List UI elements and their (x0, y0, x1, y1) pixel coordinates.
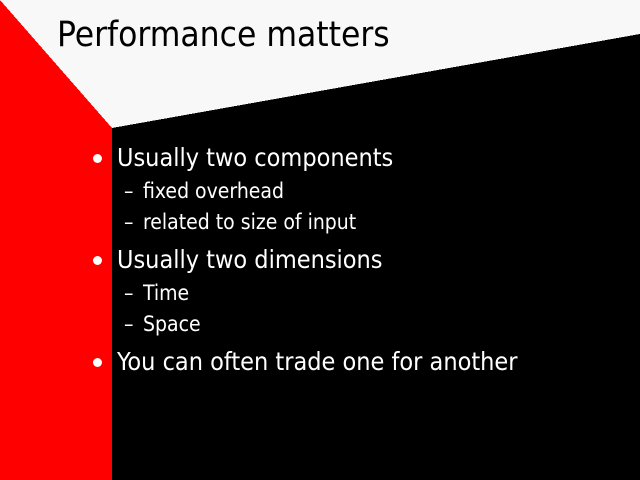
slide-body-list: Usually two components – fixed overhead … (0, 141, 640, 381)
slide-title: Performance matters (57, 14, 597, 56)
dash-marker-icon: – (124, 310, 133, 339)
dash-marker-icon: – (124, 177, 133, 206)
bullet-text: fixed overhead (143, 177, 284, 206)
bullet-text: Usually two components (117, 141, 393, 175)
bullet-text: Usually two dimensions (117, 243, 383, 277)
bullet-text: You can often trade one for another (117, 345, 518, 379)
bullet-item-level2: – Time (0, 279, 640, 310)
bullet-text: Time (143, 279, 189, 308)
bullet-text: related to size of input (143, 208, 356, 237)
bullet-item-level1: Usually two dimensions (0, 243, 640, 279)
bullet-item-level2: – fixed overhead (0, 177, 640, 208)
bullet-item-level1: You can often trade one for another (0, 345, 640, 381)
bullet-dot-icon (93, 256, 102, 265)
bullet-item-level2: – related to size of input (0, 208, 640, 239)
bullet-item-level1: Usually two components (0, 141, 640, 177)
bullet-item-level2: – Space (0, 310, 640, 341)
presentation-slide: Performance matters Usually two componen… (0, 0, 640, 480)
bullet-text: Space (143, 310, 201, 339)
dash-marker-icon: – (124, 208, 133, 237)
dash-marker-icon: – (124, 279, 133, 308)
bullet-dot-icon (93, 358, 102, 367)
bullet-dot-icon (93, 154, 102, 163)
